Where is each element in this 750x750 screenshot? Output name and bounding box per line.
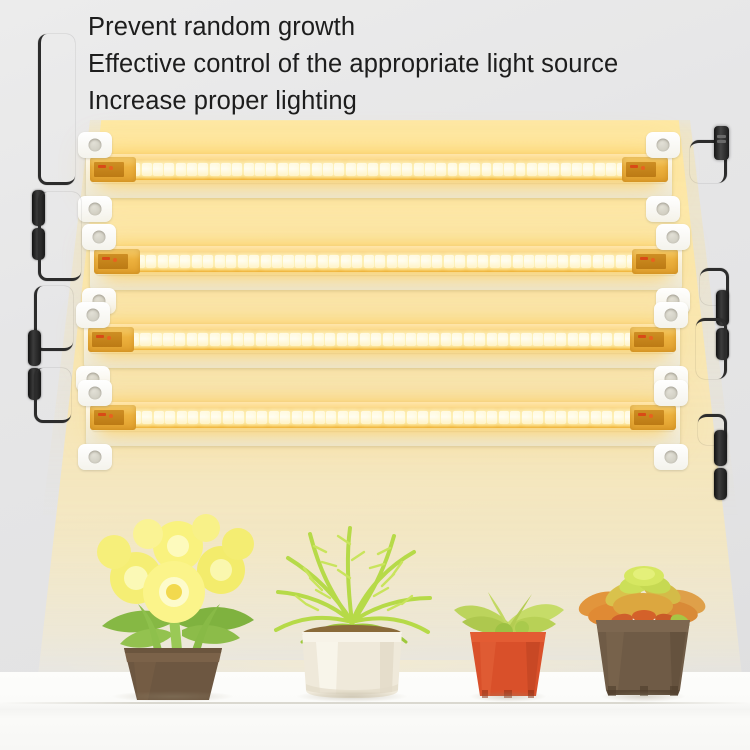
led-chip xyxy=(391,163,401,176)
led-chip xyxy=(352,255,362,268)
led-chip xyxy=(165,411,175,424)
led-chip xyxy=(417,333,427,346)
headline-block: Prevent random growth Effective control … xyxy=(88,12,738,123)
plant-3-art xyxy=(448,578,568,700)
led-chip xyxy=(372,411,382,424)
led-chip xyxy=(487,333,497,346)
cable-bar-1-left xyxy=(38,34,75,185)
led-chip xyxy=(175,333,185,346)
led-chip xyxy=(279,333,289,346)
led-chip xyxy=(524,255,534,268)
led-chip xyxy=(267,333,277,346)
led-chip xyxy=(283,255,293,268)
led-chip xyxy=(303,411,313,424)
led-chip xyxy=(383,333,393,346)
led-chip xyxy=(452,333,462,346)
led-chip xyxy=(527,163,537,176)
led-chip xyxy=(233,333,243,346)
led-chip xyxy=(429,333,439,346)
plant-3-small-leafy xyxy=(448,578,568,700)
led-chip xyxy=(533,333,543,346)
led-chip xyxy=(295,255,305,268)
led-chip xyxy=(300,163,310,176)
led-chip xyxy=(482,163,492,176)
led-chip xyxy=(464,411,474,424)
mount-tab xyxy=(656,224,690,250)
led-chip xyxy=(269,411,279,424)
led-chip xyxy=(470,163,480,176)
mount-tab xyxy=(78,196,112,222)
led-chip xyxy=(436,163,446,176)
led-chip xyxy=(544,333,554,346)
led-chip xyxy=(152,333,162,346)
led-chip xyxy=(289,163,299,176)
cable-bar-3-right xyxy=(696,318,727,379)
mount-tab xyxy=(654,302,688,328)
led-chip xyxy=(441,411,451,424)
led-chip xyxy=(357,163,367,176)
led-chip xyxy=(312,163,322,176)
led-chip xyxy=(226,255,236,268)
led-chip xyxy=(498,333,508,346)
mount-tab xyxy=(646,196,680,222)
led-chip xyxy=(538,163,548,176)
plant-2-art xyxy=(262,492,442,700)
led-chip xyxy=(215,255,225,268)
led-chip xyxy=(158,255,168,268)
led-chip xyxy=(140,333,150,346)
led-chip xyxy=(348,333,358,346)
led-chip xyxy=(394,333,404,346)
plant-1-yellow-flowers xyxy=(78,500,268,700)
led-chip xyxy=(337,333,347,346)
led-chip xyxy=(455,255,465,268)
led-chip xyxy=(616,255,626,268)
mount-tab xyxy=(82,224,116,250)
led-chip xyxy=(360,333,370,346)
led-chip xyxy=(614,333,624,346)
led-chip xyxy=(614,411,624,424)
led-chip xyxy=(453,411,463,424)
led-chip xyxy=(418,411,428,424)
led-chip xyxy=(325,333,335,346)
led-bar-3[interactable] xyxy=(56,310,708,384)
led-chip xyxy=(402,163,412,176)
endcap-right xyxy=(630,405,676,430)
led-chip xyxy=(591,333,601,346)
endcap-left xyxy=(90,157,136,182)
led-chip xyxy=(556,411,566,424)
power-plug-top xyxy=(714,126,729,160)
led-chip xyxy=(602,411,612,424)
led-chip xyxy=(198,333,208,346)
led-chip xyxy=(210,163,220,176)
led-chip xyxy=(476,411,486,424)
barrel-connector-4 xyxy=(714,430,727,500)
mount-tab xyxy=(78,444,112,470)
led-chip xyxy=(192,255,202,268)
led-chip xyxy=(198,163,208,176)
led-bar-2[interactable] xyxy=(62,232,710,306)
led-chip xyxy=(406,333,416,346)
mount-tab xyxy=(78,380,112,406)
led-chip xyxy=(606,163,616,176)
headline-line-1: Prevent random growth xyxy=(88,12,738,43)
headline-line-3: Increase proper lighting xyxy=(88,86,738,117)
led-chip xyxy=(211,411,221,424)
endcap-right xyxy=(632,249,678,274)
pot-3 xyxy=(470,632,546,698)
endcap-left xyxy=(88,327,134,352)
led-chip xyxy=(203,255,213,268)
led-chip xyxy=(547,255,557,268)
led-chip xyxy=(329,255,339,268)
led-strip-2 xyxy=(108,251,664,272)
led-chip xyxy=(464,333,474,346)
led-chip xyxy=(384,411,394,424)
led-chip xyxy=(349,411,359,424)
led-chip xyxy=(398,255,408,268)
led-chip xyxy=(535,255,545,268)
led-chip xyxy=(341,255,351,268)
led-chip xyxy=(234,411,244,424)
led-chip xyxy=(210,333,220,346)
led-chip xyxy=(407,411,417,424)
plant-1-art xyxy=(78,500,268,700)
led-chip xyxy=(338,411,348,424)
table-edge xyxy=(0,702,750,704)
led-chip xyxy=(441,333,451,346)
led-chip xyxy=(513,255,523,268)
led-chip xyxy=(163,333,173,346)
led-chip xyxy=(318,255,328,268)
led-chip xyxy=(272,255,282,268)
led-chip xyxy=(249,255,259,268)
led-chip xyxy=(302,333,312,346)
led-chip xyxy=(595,163,605,176)
cable-bar-2-left xyxy=(38,192,81,281)
led-chip xyxy=(579,333,589,346)
led-chip xyxy=(142,411,152,424)
led-bar-4[interactable] xyxy=(58,388,708,462)
led-chip xyxy=(323,163,333,176)
led-chip xyxy=(568,411,578,424)
led-chip xyxy=(504,163,514,176)
led-chip xyxy=(223,411,233,424)
led-chip xyxy=(549,163,559,176)
led-chip xyxy=(257,411,267,424)
led-chip xyxy=(164,163,174,176)
led-chip xyxy=(444,255,454,268)
endcap-right xyxy=(630,327,676,352)
led-chip xyxy=(261,255,271,268)
led-chip xyxy=(246,411,256,424)
led-chip xyxy=(187,333,197,346)
mount-tab xyxy=(646,132,680,158)
mount-tab xyxy=(654,444,688,470)
led-chip xyxy=(490,255,500,268)
led-chip xyxy=(558,255,568,268)
led-chip xyxy=(533,411,543,424)
led-chip xyxy=(521,333,531,346)
led-chip xyxy=(487,411,497,424)
product-image-canvas: Prevent random growth Effective control … xyxy=(0,0,750,750)
led-chip xyxy=(146,255,156,268)
plant-4-succulent xyxy=(578,558,708,700)
led-chip xyxy=(153,163,163,176)
led-chip xyxy=(522,411,532,424)
led-chip xyxy=(593,255,603,268)
led-chip xyxy=(425,163,435,176)
led-chip xyxy=(232,163,242,176)
led-chip xyxy=(387,255,397,268)
plant-4-art xyxy=(578,558,708,700)
led-chip xyxy=(475,333,485,346)
led-chip xyxy=(368,163,378,176)
endcap-left xyxy=(94,249,140,274)
mount-tab xyxy=(76,302,110,328)
led-chip xyxy=(430,411,440,424)
led-chip xyxy=(371,333,381,346)
led-chip xyxy=(510,411,520,424)
led-chip xyxy=(501,255,511,268)
led-chip xyxy=(364,255,374,268)
pot-4 xyxy=(596,620,690,696)
led-chip xyxy=(361,411,371,424)
led-chip xyxy=(493,163,503,176)
led-strip-4 xyxy=(104,407,662,428)
led-chip xyxy=(581,255,591,268)
endcap-left xyxy=(90,405,136,430)
led-chip xyxy=(255,163,265,176)
yellow-flowers xyxy=(97,514,254,623)
led-chip xyxy=(448,163,458,176)
led-bar-1[interactable] xyxy=(58,140,700,214)
led-chip xyxy=(290,333,300,346)
led-chip xyxy=(545,411,555,424)
led-chip xyxy=(568,333,578,346)
led-chip xyxy=(579,411,589,424)
led-chip xyxy=(200,411,210,424)
led-chip xyxy=(187,163,197,176)
led-chip xyxy=(380,163,390,176)
led-chip xyxy=(414,163,424,176)
endcap-right xyxy=(622,157,668,182)
led-chip xyxy=(169,255,179,268)
led-chip xyxy=(176,163,186,176)
led-chip xyxy=(244,163,254,176)
led-chip xyxy=(238,255,248,268)
led-chip xyxy=(221,333,231,346)
led-strip-1 xyxy=(104,159,654,180)
led-chip xyxy=(334,163,344,176)
led-chip xyxy=(180,255,190,268)
led-chip xyxy=(154,411,164,424)
led-chip xyxy=(583,163,593,176)
led-chip xyxy=(591,411,601,424)
led-chip xyxy=(421,255,431,268)
led-chip xyxy=(326,411,336,424)
led-chip xyxy=(278,163,288,176)
led-chip xyxy=(315,411,325,424)
led-chip xyxy=(516,163,526,176)
led-chip xyxy=(467,255,477,268)
led-chip xyxy=(375,255,385,268)
led-chip xyxy=(142,163,152,176)
led-chip xyxy=(510,333,520,346)
led-chip xyxy=(602,333,612,346)
led-chip xyxy=(221,163,231,176)
pot-2 xyxy=(302,632,402,698)
cable-bar-4-left xyxy=(34,368,71,423)
led-chip xyxy=(432,255,442,268)
led-chip xyxy=(280,411,290,424)
led-strip-3 xyxy=(102,329,662,350)
led-chip xyxy=(570,255,580,268)
plant-2-fern xyxy=(262,492,442,700)
headline-line-2: Effective control of the appropriate lig… xyxy=(88,49,738,80)
led-chip xyxy=(306,255,316,268)
led-chip xyxy=(478,255,488,268)
led-chip xyxy=(266,163,276,176)
fern-fronds xyxy=(276,528,430,642)
mount-tab xyxy=(654,380,688,406)
led-chip xyxy=(572,163,582,176)
mount-tab xyxy=(78,132,112,158)
led-chip xyxy=(459,163,469,176)
led-chip xyxy=(256,333,266,346)
led-chip xyxy=(556,333,566,346)
led-chip xyxy=(244,333,254,346)
led-chip xyxy=(346,163,356,176)
led-chip xyxy=(177,411,187,424)
led-chip xyxy=(409,255,419,268)
led-chip xyxy=(188,411,198,424)
led-chip xyxy=(292,411,302,424)
led-chip xyxy=(395,411,405,424)
led-chip xyxy=(561,163,571,176)
led-chip xyxy=(499,411,509,424)
led-chip xyxy=(314,333,324,346)
led-chip xyxy=(604,255,614,268)
